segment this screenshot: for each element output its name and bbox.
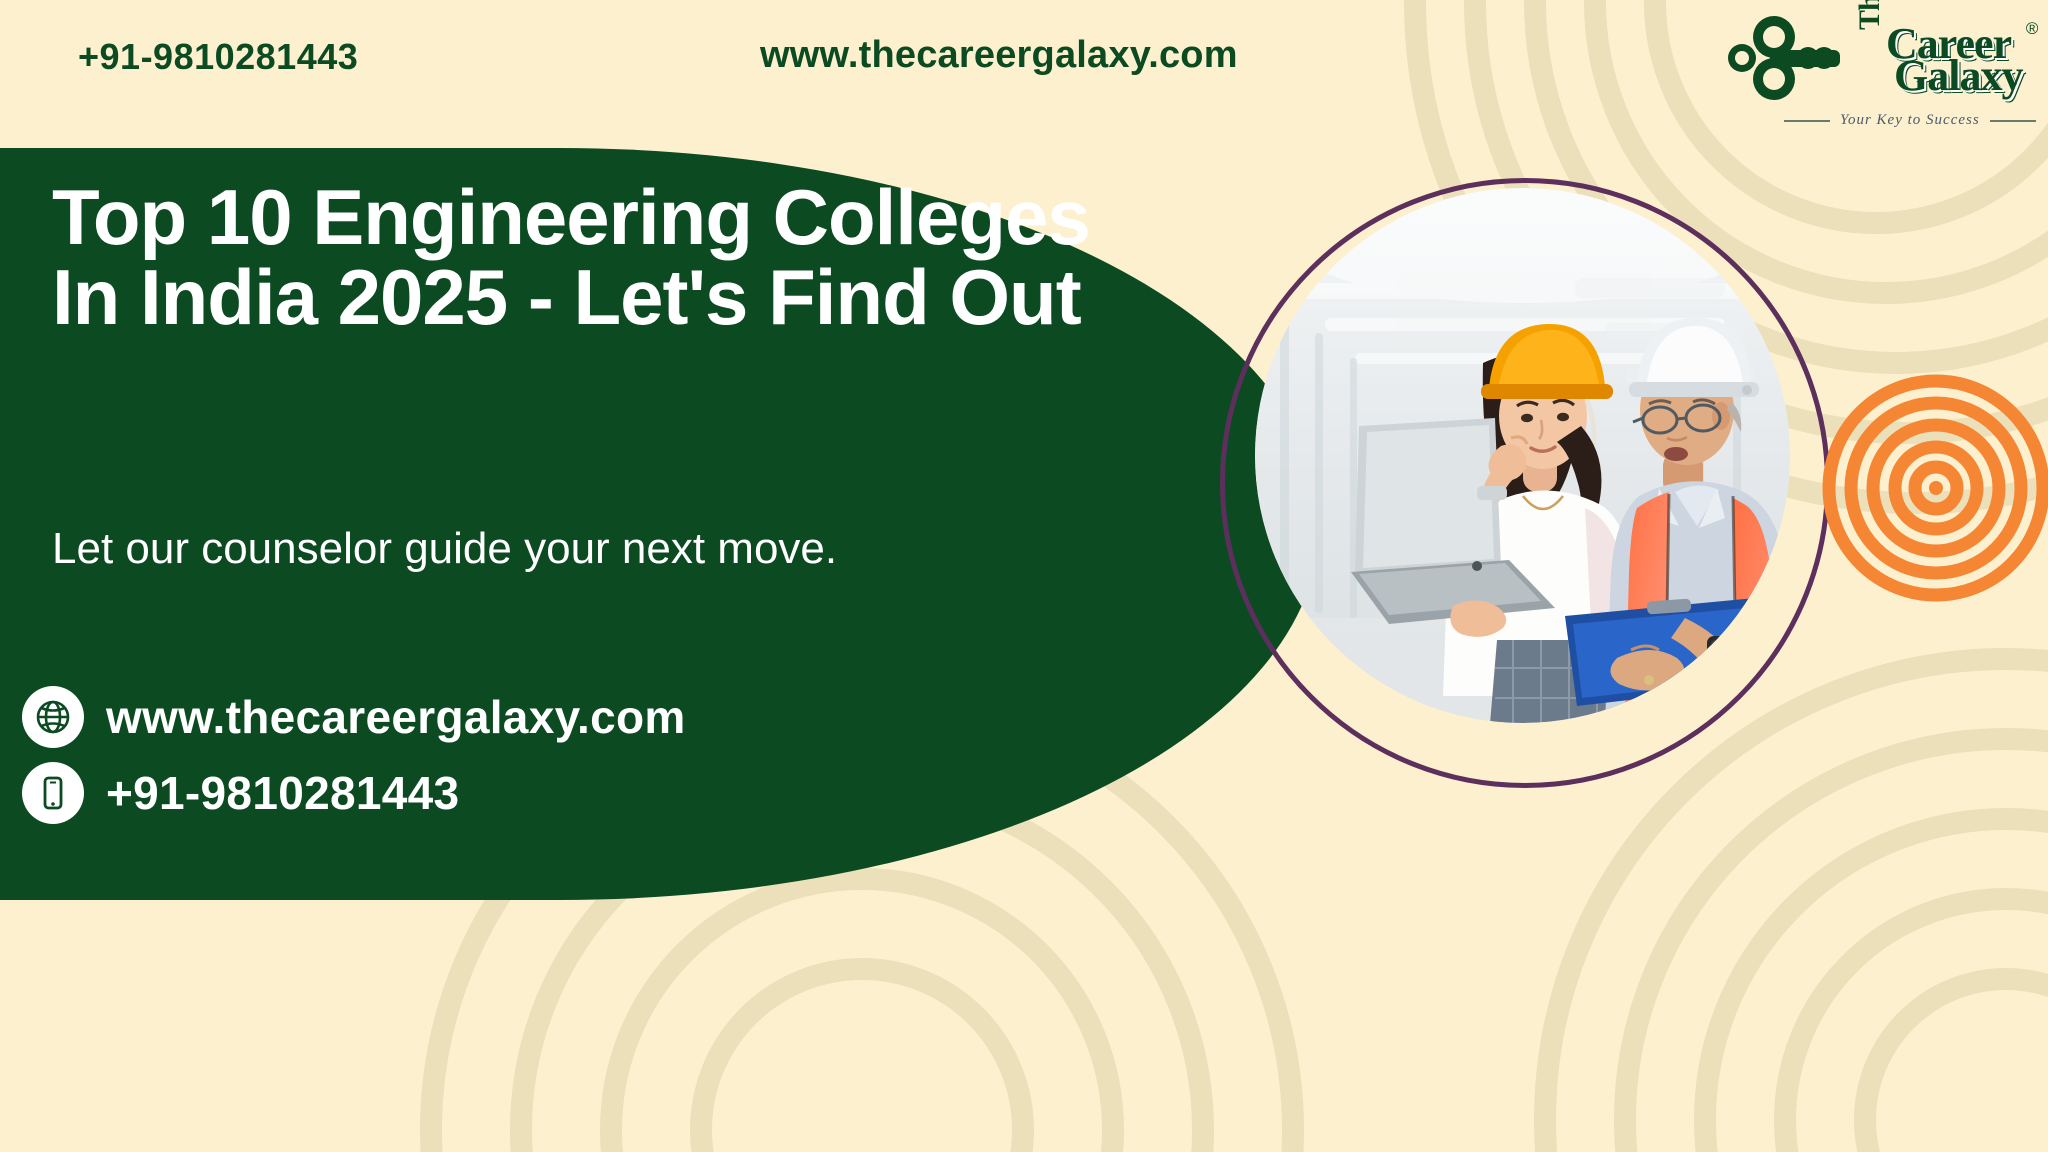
brand-logo[interactable]: The Career Galaxy ® Your Key to Success <box>1724 14 2024 138</box>
arc-decoration <box>1854 968 2048 1152</box>
header-website-url[interactable]: www.thecareergalaxy.com <box>760 34 1238 77</box>
hero-content: Top 10 Engineering Colleges In India 202… <box>0 148 1200 900</box>
divider-left <box>1784 120 1830 122</box>
logo-lockup: The Career Galaxy ® <box>1724 14 2024 106</box>
divider-right <box>1990 120 2036 122</box>
arc-decoration <box>600 868 1124 1152</box>
logo-tagline: Your Key to Success <box>1724 112 2024 129</box>
contact-phone-text: +91-9810281443 <box>106 766 459 820</box>
logo-tagline-text: Your Key to Success <box>1840 112 1980 129</box>
contact-website-text: www.thecareergalaxy.com <box>106 690 686 744</box>
banner-canvas: +91-9810281443 www.thecareergalaxy.com <box>0 0 2048 1152</box>
logo-wordmark: The Career Galaxy ® <box>1860 26 2022 94</box>
arc-decoration <box>690 958 1034 1152</box>
registered-trademark-icon: ® <box>2026 22 2039 36</box>
mobile-phone-icon <box>22 762 84 824</box>
hero-photo <box>1255 188 1790 723</box>
globe-icon <box>22 686 84 748</box>
key-icon <box>1724 15 1856 106</box>
header-phone-number[interactable]: +91-9810281443 <box>78 36 358 78</box>
arc-decoration <box>1774 888 2048 1152</box>
contact-website-row[interactable]: www.thecareergalaxy.com <box>22 686 686 748</box>
orange-target-decoration <box>1822 374 2048 602</box>
arc-decoration <box>1614 728 2048 1152</box>
logo-galaxy-text: Galaxy <box>1894 58 2022 94</box>
logo-the-text: The <box>1858 0 1883 30</box>
page-title: Top 10 Engineering Colleges In India 202… <box>52 178 1112 337</box>
arc-decoration <box>1694 808 2048 1152</box>
hero-subtitle: Let our counselor guide your next move. <box>52 520 852 578</box>
contact-phone-row[interactable]: +91-9810281443 <box>22 762 686 824</box>
hero-contact-list: www.thecareergalaxy.com +91-9810281443 <box>22 686 686 838</box>
